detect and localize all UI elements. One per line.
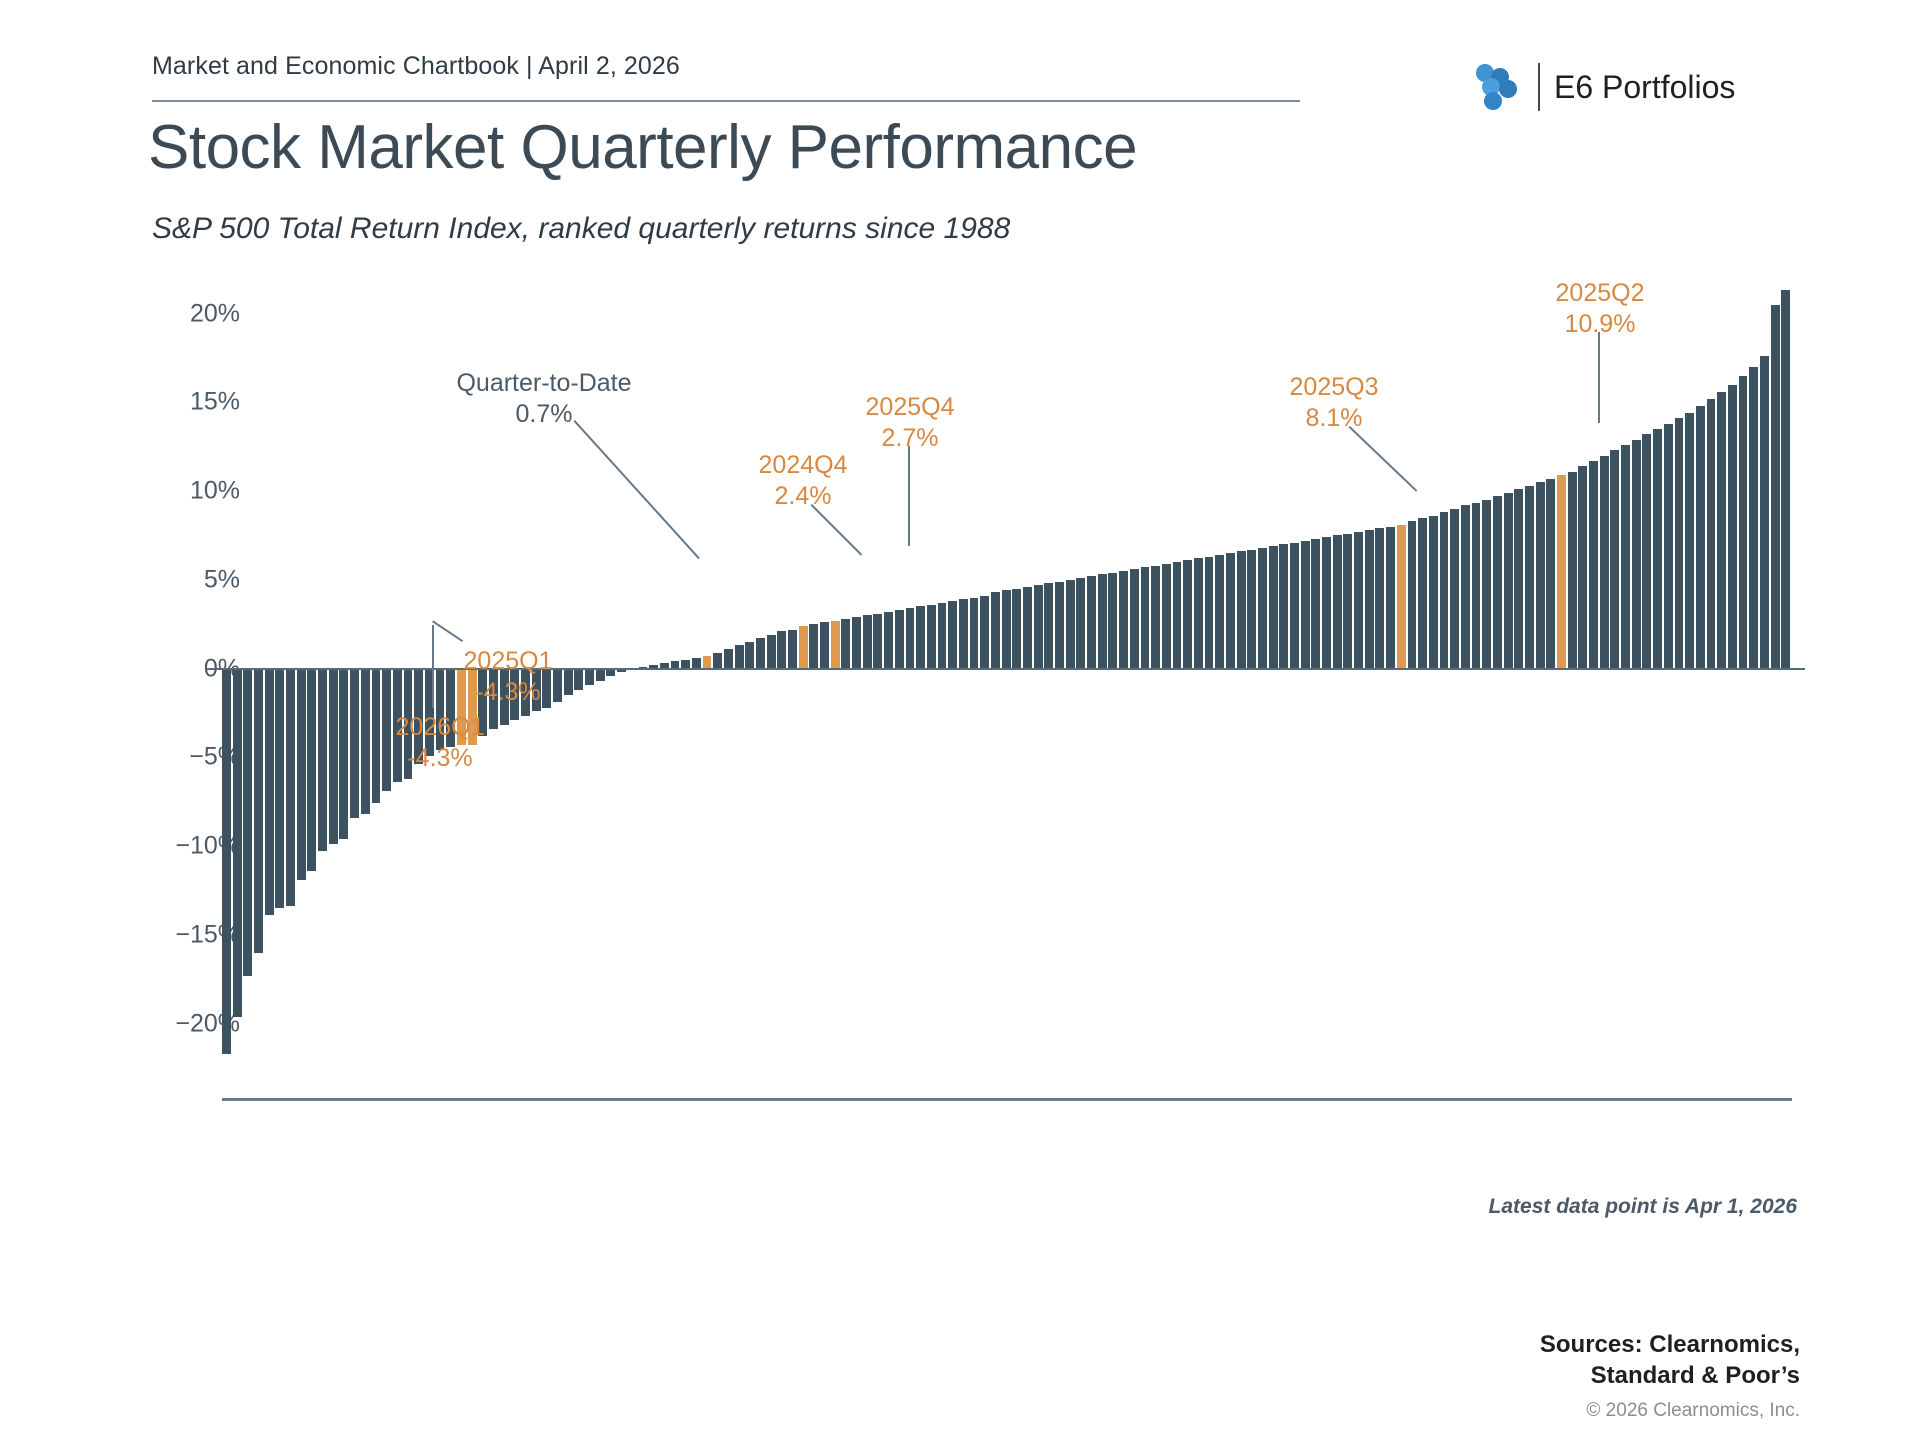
annotation-value: 8.1%: [1290, 403, 1379, 434]
bar: [1087, 576, 1096, 668]
bar: [777, 631, 786, 668]
annotation-label: 2025Q2: [1556, 278, 1645, 309]
chartbook-breadcrumb: Market and Economic Chartbook | April 2,…: [152, 52, 680, 81]
bar: [1568, 472, 1577, 669]
bar: [254, 669, 263, 953]
annotation-q2026q1: 2026Q1-4.3%: [396, 712, 485, 773]
bar: [970, 598, 979, 669]
bar: [1482, 500, 1491, 669]
latest-data-note: Latest data point is Apr 1, 2026: [1489, 1195, 1797, 1219]
sources-line-1: Sources: Clearnomics,: [1540, 1330, 1800, 1361]
bar: [1194, 558, 1203, 668]
logo-divider: [1538, 63, 1540, 111]
bar: [585, 669, 594, 685]
bar: [1675, 418, 1684, 668]
sources-block: Sources: Clearnomics, Standard & Poor’s: [1540, 1330, 1800, 1391]
bar: [1728, 385, 1737, 669]
annotation-q2025q3: 2025Q38.1%: [1290, 372, 1379, 433]
bar: [767, 635, 776, 669]
bar: [1739, 376, 1748, 669]
bar: [307, 669, 316, 871]
bar: [1066, 580, 1075, 669]
bar: [1333, 535, 1342, 668]
bar: [1536, 482, 1545, 668]
bar: [895, 610, 904, 669]
bar: [1493, 496, 1502, 668]
bar: [1269, 546, 1278, 668]
bar: [1205, 557, 1214, 669]
bar: [1215, 555, 1224, 669]
bar: [1141, 567, 1150, 668]
bar: [1151, 566, 1160, 669]
bar: [265, 669, 274, 916]
bar: [916, 606, 925, 668]
bar: [564, 669, 573, 696]
bar: [1450, 509, 1459, 669]
bar-highlight-2025q3: [1397, 525, 1406, 669]
bar: [980, 596, 989, 669]
bar: [1717, 392, 1726, 669]
bar: [820, 622, 829, 668]
sources-line-2: Standard & Poor’s: [1540, 1361, 1800, 1392]
bar: [350, 669, 359, 818]
bar: [1023, 587, 1032, 669]
e6-diamond-logo-icon: [1470, 62, 1524, 112]
leader-line-q2025q2: [1598, 332, 1600, 423]
page-subtitle: S&P 500 Total Return Index, ranked quart…: [152, 212, 1010, 246]
annotation-q2025q2: 2025Q210.9%: [1556, 278, 1645, 339]
annotation-label: 2025Q4: [866, 392, 955, 423]
bar: [884, 612, 893, 669]
bar: [275, 669, 284, 909]
bar: [1472, 503, 1481, 668]
bar: [1386, 527, 1395, 669]
bar: [1589, 461, 1598, 669]
bar: [1600, 456, 1609, 669]
leader-line-q2025q4: [908, 446, 910, 546]
bar: [222, 669, 231, 1054]
bar: [1258, 548, 1267, 669]
bar: [1279, 544, 1288, 668]
annotation-value: -4.3%: [396, 743, 485, 774]
bar: [1173, 562, 1182, 669]
bar: [1664, 424, 1673, 669]
bar: [329, 669, 338, 845]
bar: [745, 642, 754, 669]
bar: [1044, 583, 1053, 668]
annotation-qtd: Quarter-to-Date0.7%: [456, 368, 631, 429]
bar: [1610, 450, 1619, 668]
bar: [372, 669, 381, 804]
bar: [1365, 530, 1374, 668]
annotation-value: 2.4%: [759, 481, 848, 512]
bar: [1696, 406, 1705, 669]
bar-highlight-2025q2: [1557, 475, 1566, 669]
bar: [1130, 569, 1139, 668]
annotation-value: 0.7%: [456, 399, 631, 430]
bar: [297, 669, 306, 880]
annotation-q2024q4: 2024Q42.4%: [759, 450, 848, 511]
bar: [1343, 534, 1352, 669]
bar: [809, 624, 818, 668]
annotation-label: 2024Q4: [759, 450, 848, 481]
bar: [756, 638, 765, 668]
bar-highlight-2024q4: [799, 626, 808, 669]
bar: [938, 603, 947, 669]
bar: [1685, 413, 1694, 669]
bar: [1771, 305, 1780, 669]
bar: [1440, 512, 1449, 668]
bar: [1408, 521, 1417, 668]
bar: [1301, 541, 1310, 669]
bar: [1760, 356, 1769, 668]
page-header: Market and Economic Chartbook | April 2,…: [0, 0, 1920, 270]
bar-highlight-2025q4: [831, 621, 840, 669]
bar: [1514, 489, 1523, 668]
bar: [1076, 578, 1085, 669]
bar: [1653, 429, 1662, 669]
bar: [906, 608, 915, 668]
chart-bottom-rule: [222, 1098, 1792, 1101]
bar: [1311, 539, 1320, 669]
page-title: Stock Market Quarterly Performance: [148, 112, 1137, 183]
header-divider: [152, 100, 1300, 102]
brand-logo: E6 Portfolios: [1470, 62, 1735, 112]
bar: [1418, 518, 1427, 669]
bar: [1632, 440, 1641, 669]
bar: [1375, 528, 1384, 668]
bar: [1354, 532, 1363, 669]
bar: [574, 669, 583, 690]
bar: [596, 669, 605, 681]
bar: [1461, 505, 1470, 668]
bar: [841, 619, 850, 669]
annotation-value: 10.9%: [1556, 309, 1645, 340]
bar: [286, 669, 295, 907]
bar: [713, 653, 722, 669]
bar: [1012, 589, 1021, 669]
bar: [959, 599, 968, 668]
bar: [243, 669, 252, 976]
zero-baseline: [205, 668, 1805, 670]
bar: [735, 645, 744, 668]
bar: [788, 630, 797, 669]
annotation-label: Quarter-to-Date: [456, 368, 631, 399]
bar: [1119, 571, 1128, 669]
annotation-q2025q1: 2025Q1-4.3%: [464, 646, 553, 707]
annotation-label: 2026Q1: [396, 712, 485, 743]
bar: [1002, 590, 1011, 668]
bar: [1183, 560, 1192, 668]
annotation-label: 2025Q3: [1290, 372, 1379, 403]
bar: [1578, 466, 1587, 668]
annotation-label: 2025Q1: [464, 646, 553, 677]
bar: [1108, 573, 1117, 669]
bar: [1429, 516, 1438, 669]
bar: [1237, 551, 1246, 668]
bar: [927, 605, 936, 669]
bar: [361, 669, 370, 815]
bar: [1749, 367, 1758, 669]
bar: [1781, 290, 1790, 668]
annotation-value: 2.7%: [866, 423, 955, 454]
chart-plot-area: 20%15%10%5%0%−5%−10%−15%−20% Quarter-to-…: [0, 260, 1920, 1100]
annotation-value: -4.3%: [464, 677, 553, 708]
bar: [1504, 493, 1513, 669]
bar: [1546, 479, 1555, 669]
bar: [1055, 582, 1064, 669]
annotation-q2025q4: 2025Q42.7%: [866, 392, 955, 453]
bar: [724, 649, 733, 669]
bar: [1098, 574, 1107, 668]
bar: [318, 669, 327, 852]
bar: [1322, 537, 1331, 668]
bar: [233, 669, 242, 1017]
leader-line-q2026q1: [432, 625, 434, 708]
bar: [382, 669, 391, 791]
bar: [1290, 543, 1299, 669]
bar: [1034, 585, 1043, 668]
bar: [1707, 399, 1716, 669]
bar: [1226, 553, 1235, 668]
bar: [1621, 445, 1630, 669]
bar: [1525, 486, 1534, 669]
bar: [852, 617, 861, 668]
bar: [1642, 434, 1651, 668]
bar: [606, 669, 615, 676]
bar: [863, 615, 872, 668]
logo-wordmark: E6 Portfolios: [1554, 69, 1735, 106]
copyright-notice: © 2026 Clearnomics, Inc.: [1586, 1400, 1800, 1422]
bar: [873, 614, 882, 669]
bar: [1247, 550, 1256, 669]
bar: [339, 669, 348, 839]
bar: [948, 601, 957, 668]
bar: [991, 592, 1000, 668]
bar: [553, 669, 562, 703]
bar: [1162, 564, 1171, 669]
